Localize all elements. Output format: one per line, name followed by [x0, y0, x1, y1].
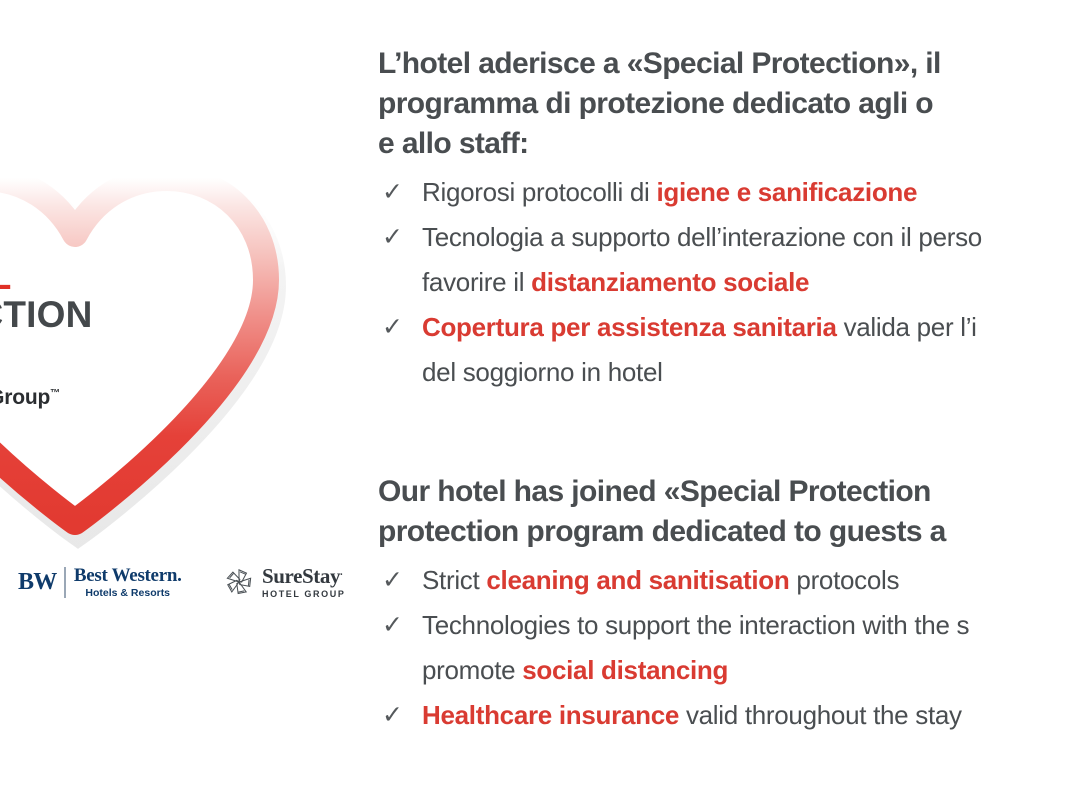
italian-block: L’hotel aderisce a «Special Protection»,… — [378, 44, 1080, 395]
bullet-text-plain: favorire il — [422, 267, 531, 297]
check-icon: ✓ — [382, 558, 403, 603]
best-western-logo: BW Best Western. Hotels & Resorts — [18, 566, 182, 599]
trademark-symbol: ™ — [50, 388, 60, 399]
logo-title-special: SPECIAL — [0, 258, 208, 296]
list-item: ✓Copertura per assistenza sanitaria vali… — [378, 305, 1080, 350]
surestay-tagline: HOTEL GROUP — [262, 590, 345, 599]
bullet-text-highlight: Copertura per assistenza sanitaria — [422, 312, 837, 342]
surestay-registered-mark: . — [340, 567, 342, 578]
list-item-continuation: del soggiorno in hotel — [378, 350, 1080, 395]
bullet-text-plain: valid throughout the stay — [679, 700, 962, 730]
check-icon: ✓ — [382, 305, 403, 350]
english-block: Our hotel has joined «Special Protection… — [378, 472, 1080, 738]
list-item-continuation: favorire il distanziamento sociale — [378, 260, 1080, 305]
bullet-text-plain: valida per l’i — [837, 312, 977, 342]
check-icon: ✓ — [382, 215, 403, 260]
bullet-text-plain: Rigorosi protocolli di — [422, 177, 656, 207]
bullet-text-plain: Technologies to support the interaction … — [422, 610, 969, 640]
bullet-text-highlight: cleaning and sanitisation — [486, 565, 789, 595]
surestay-brand-name: SureStay. — [262, 566, 345, 587]
list-item: ✓Healthcare insurance valid throughout t… — [378, 693, 1080, 738]
special-protection-wordmark: SPECIAL PROTECTION — [0, 258, 208, 335]
list-item: ✓Strict cleaning and sanitisation protoc… — [378, 558, 1080, 603]
english-bullet-list: ✓Strict cleaning and sanitisation protoc… — [378, 558, 1080, 738]
slide-canvas: SPECIAL PROTECTION BWH Hotel Group™ BW B… — [0, 0, 1080, 800]
bullet-text-plain: promote — [422, 655, 522, 685]
logo-title-protection: PROTECTION — [0, 296, 208, 335]
heart-outline-icon — [0, 150, 300, 550]
bullet-text-highlight: distanziamento sociale — [531, 267, 809, 297]
italian-headline-line-2: programma di protezione dedicato agli o — [378, 84, 1080, 124]
bullet-text-plain-2: protocols — [789, 565, 899, 595]
bw-divider — [64, 567, 66, 598]
italian-bullet-list: ✓Rigorosi protocolli di igiene e sanific… — [378, 170, 1080, 395]
bullet-text-plain: Strict — [422, 565, 486, 595]
content-column: L’hotel aderisce a «Special Protection»,… — [378, 0, 1080, 800]
surestay-pinwheel-icon — [222, 565, 256, 599]
check-icon: ✓ — [382, 603, 403, 648]
english-headline-line-1: Our hotel has joined «Special Protection — [378, 472, 1080, 512]
italian-headline-line-1: L’hotel aderisce a «Special Protection»,… — [378, 44, 1080, 84]
brand-logo-row: BW Best Western. Hotels & Resorts — [0, 562, 372, 616]
bullet-text-plain: del soggiorno in hotel — [422, 357, 663, 387]
bw-monogram: BW — [18, 570, 56, 594]
logo-panel: SPECIAL PROTECTION BWH Hotel Group™ BW B… — [0, 0, 372, 800]
italian-headline-line-3: e allo staff: — [378, 124, 1080, 164]
check-icon: ✓ — [382, 170, 403, 215]
list-item: ✓Technologies to support the interaction… — [378, 603, 1080, 648]
bullet-text-plain: Tecnologia a supporto dell’interazione c… — [422, 222, 982, 252]
check-icon: ✓ — [382, 693, 403, 738]
surestay-logo: SureStay. HOTEL GROUP — [222, 565, 345, 599]
bwh-hotel-group-logo: BWH Hotel Group™ — [0, 385, 60, 412]
english-headline-line-2: protection program dedicated to guests a — [378, 512, 1080, 552]
bw-brand-name: Best Western. — [74, 566, 182, 585]
bwh-group-name: Hotel Group™ — [0, 385, 60, 411]
bw-tagline: Hotels & Resorts — [74, 588, 182, 599]
list-item: ✓Tecnologia a supporto dell’interazione … — [378, 215, 1080, 260]
list-item-continuation: promote social distancing — [378, 648, 1080, 693]
bullet-text-highlight: Healthcare insurance — [422, 700, 679, 730]
bullet-text-highlight: igiene e sanificazione — [656, 177, 917, 207]
list-item: ✓Rigorosi protocolli di igiene e sanific… — [378, 170, 1080, 215]
bullet-text-highlight: social distancing — [522, 655, 728, 685]
